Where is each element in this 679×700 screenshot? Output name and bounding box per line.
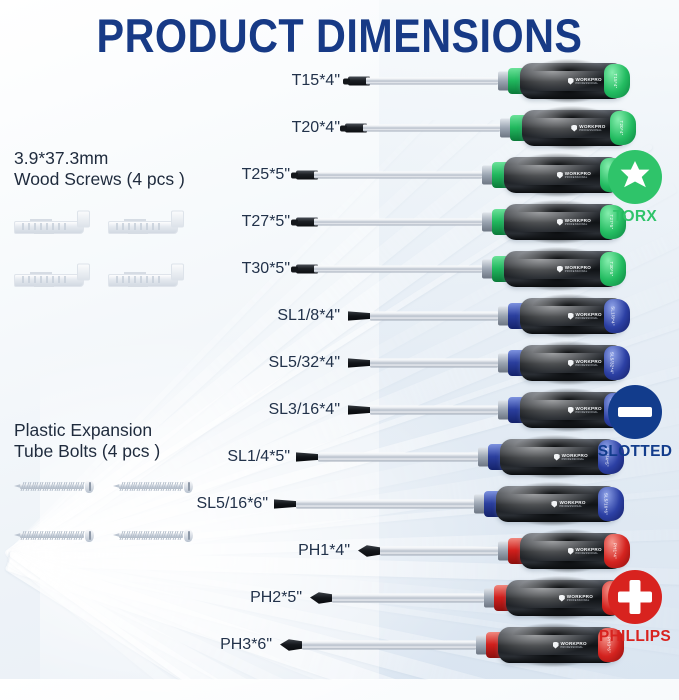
shield-icon: [568, 360, 574, 367]
phillips-cross-icon: [608, 570, 662, 624]
screwdriver-row: SL5/32*4"WORKPROPROFESSIONALSL5/32*4": [0, 340, 679, 386]
screwdriver-shaft: [370, 406, 498, 415]
screwdriver-shaft: [314, 219, 482, 226]
end-cap-size: SL5/32*4": [609, 352, 614, 374]
brand-sub: PROFESSIONAL: [565, 176, 591, 179]
handle-end-cap: T15*4": [604, 64, 630, 98]
workpro-logo: WORKPROPROFESSIONAL: [557, 218, 591, 226]
screwdriver-phillips[interactable]: WORKPROPROFESSIONALPH2*5": [310, 578, 624, 618]
shield-icon: [557, 172, 563, 179]
screwdriver-slotted[interactable]: WORKPROPROFESSIONALSL1/8*4": [348, 296, 626, 336]
page-title: PRODUCT DIMENSIONS: [41, 8, 639, 63]
shield-icon: [557, 219, 563, 226]
screwdriver-row: T27*5"WORKPROPROFESSIONALT27*5": [0, 199, 679, 245]
end-cap-size: T15*4": [613, 73, 618, 88]
shield-icon: [568, 548, 574, 555]
end-cap-size: SL5/16*6": [603, 493, 608, 515]
shield-icon: [553, 642, 559, 649]
screwdriver-shaft: [296, 500, 474, 509]
shield-icon: [568, 407, 574, 414]
screwdriver-slotted[interactable]: WORKPROPROFESSIONALSL1/4*5": [296, 437, 620, 477]
screwdriver-size-label: SL5/32*4": [268, 354, 340, 372]
brand-sub: PROFESSIONAL: [565, 270, 591, 273]
screwdriver-size-label: T30*5": [242, 260, 290, 278]
handle-end-cap: PH1*4": [604, 534, 630, 568]
handle-end-cap: T20*4": [610, 111, 636, 145]
screwdriver-shaft: [318, 453, 478, 462]
category-slotted-label: SLOTTED: [592, 443, 678, 461]
slotted-bar-icon: [608, 385, 662, 439]
shield-icon: [559, 595, 565, 602]
screwdriver-phillips[interactable]: WORKPROPROFESSIONALPH3*6": [280, 625, 620, 665]
screwdriver-row: SL1/4*5"WORKPROPROFESSIONALSL1/4*5": [0, 434, 679, 480]
screwdriver-shaft: [314, 172, 482, 179]
workpro-logo: WORKPROPROFESSIONAL: [557, 171, 591, 179]
brand-sub: PROFESSIONAL: [561, 646, 587, 649]
shield-icon: [568, 78, 574, 85]
screwdriver-row: SL1/8*4"WORKPROPROFESSIONALSL1/8*4": [0, 293, 679, 339]
shield-icon: [551, 501, 557, 508]
screwdriver-row: T20*4"WORKPROPROFESSIONALT20*4": [0, 105, 679, 151]
screwdriver-row: PH1*4"WORKPROPROFESSIONALPH1*4": [0, 528, 679, 574]
screwdriver-size-label: PH1*4": [298, 542, 350, 560]
screwdriver-torx[interactable]: WORKPROPROFESSIONALT15*4": [348, 61, 626, 101]
brand-sub: PROFESSIONAL: [576, 82, 602, 85]
workpro-logo: WORKPROPROFESSIONAL: [557, 265, 591, 273]
screwdriver-size-label: T27*5": [242, 213, 290, 231]
screwdriver-row: PH3*6"WORKPROPROFESSIONALPH3*6": [0, 622, 679, 668]
screwdriver-slotted[interactable]: WORKPROPROFESSIONALSL3/16*4": [348, 390, 626, 430]
shield-icon: [557, 266, 563, 273]
screwdriver-size-label: SL5/16*6": [196, 495, 268, 513]
screwdriver-size-label: SL1/8*4": [277, 307, 340, 325]
end-cap-size: PH1*4": [612, 543, 617, 559]
brand-sub: PROFESSIONAL: [565, 223, 591, 226]
handle-end-cap: SL5/32*4": [604, 346, 630, 380]
workpro-logo: WORKPROPROFESSIONAL: [568, 77, 602, 85]
handle-end-cap: SL1/8*4": [604, 299, 630, 333]
screwdriver-row: T15*4"WORKPROPROFESSIONALT15*4": [0, 58, 679, 104]
shield-icon: [571, 125, 577, 132]
workpro-logo: WORKPROPROFESSIONAL: [554, 453, 588, 461]
category-slotted: SLOTTED: [592, 385, 678, 461]
end-cap-size: T30*5": [609, 261, 614, 276]
workpro-logo: WORKPROPROFESSIONAL: [568, 312, 602, 320]
brand-sub: PROFESSIONAL: [562, 458, 588, 461]
brand-sub: PROFESSIONAL: [576, 317, 602, 320]
screwdriver-row: T30*5"WORKPROPROFESSIONALT30*5": [0, 246, 679, 292]
screwdriver-slotted[interactable]: WORKPROPROFESSIONALSL5/16*6": [274, 484, 620, 524]
screwdriver-size-label: SL1/4*5": [227, 448, 290, 466]
brand-sub: PROFESSIONAL: [567, 599, 593, 602]
screwdriver-shaft: [363, 125, 500, 132]
screwdriver-size-label: T20*4": [292, 119, 340, 137]
handle-end-cap: SL5/16*6": [598, 487, 624, 521]
screwdriver-size-label: PH2*5": [250, 589, 302, 607]
screwdriver-torx[interactable]: WORKPROPROFESSIONALT27*5": [296, 202, 622, 242]
screwdriver-shaft: [314, 266, 482, 273]
workpro-logo: WORKPROPROFESSIONAL: [559, 594, 593, 602]
screwdriver-slotted[interactable]: WORKPROPROFESSIONALSL5/32*4": [348, 343, 626, 383]
screwdriver-shaft: [302, 641, 476, 650]
brand-sub: PROFESSIONAL: [579, 129, 605, 132]
screwdriver-row: SL3/16*4"WORKPROPROFESSIONALSL3/16*4": [0, 387, 679, 433]
category-phillips-label: PHILLIPS: [592, 628, 678, 646]
screwdriver-size-label: PH3*6": [220, 636, 272, 654]
shield-icon: [554, 454, 560, 461]
screwdriver-shaft: [380, 547, 498, 556]
category-torx: TORX: [592, 150, 678, 226]
workpro-logo: WORKPROPROFESSIONAL: [568, 359, 602, 367]
category-torx-label: TORX: [592, 208, 678, 226]
brand-sub: PROFESSIONAL: [576, 552, 602, 555]
screwdriver-shaft: [332, 594, 484, 603]
screwdriver-size-label: SL3/16*4": [268, 401, 340, 419]
infographic-canvas: PRODUCT DIMENSIONS 3.9*37.3mm Wood Screw…: [0, 0, 679, 679]
workpro-logo: WORKPROPROFESSIONAL: [568, 547, 602, 555]
handle-end-cap: T30*5": [600, 252, 626, 286]
screwdriver-phillips[interactable]: WORKPROPROFESSIONALPH1*4": [358, 531, 626, 571]
screwdriver-row: PH2*5"WORKPROPROFESSIONALPH2*5": [0, 575, 679, 621]
brand-sub: PROFESSIONAL: [559, 505, 585, 508]
end-cap-size: T20*4": [619, 120, 624, 135]
brand-sub: PROFESSIONAL: [576, 364, 602, 367]
workpro-logo: WORKPROPROFESSIONAL: [553, 641, 587, 649]
category-phillips: PHILLIPS: [592, 570, 678, 646]
screwdriver-shaft: [370, 312, 498, 321]
screwdriver-shaft: [370, 359, 498, 368]
workpro-logo: WORKPROPROFESSIONAL: [551, 500, 585, 508]
screwdriver-torx[interactable]: WORKPROPROFESSIONALT20*4": [345, 108, 632, 148]
torx-star-icon: [608, 150, 662, 204]
workpro-logo: WORKPROPROFESSIONAL: [571, 124, 605, 132]
screwdriver-row: SL5/16*6"WORKPROPROFESSIONALSL5/16*6": [0, 481, 679, 527]
screwdriver-size-label: T15*4": [292, 72, 340, 90]
screwdriver-row: T25*5"WORKPROPROFESSIONALT25*5": [0, 152, 679, 198]
screwdriver-torx[interactable]: WORKPROPROFESSIONALT30*5": [296, 249, 622, 289]
screwdriver-size-label: T25*5": [242, 166, 290, 184]
shield-icon: [568, 313, 574, 320]
end-cap-size: SL1/8*4": [611, 306, 616, 326]
screwdriver-shaft: [366, 78, 498, 85]
screwdriver-torx[interactable]: WORKPROPROFESSIONALT25*5": [296, 155, 622, 195]
